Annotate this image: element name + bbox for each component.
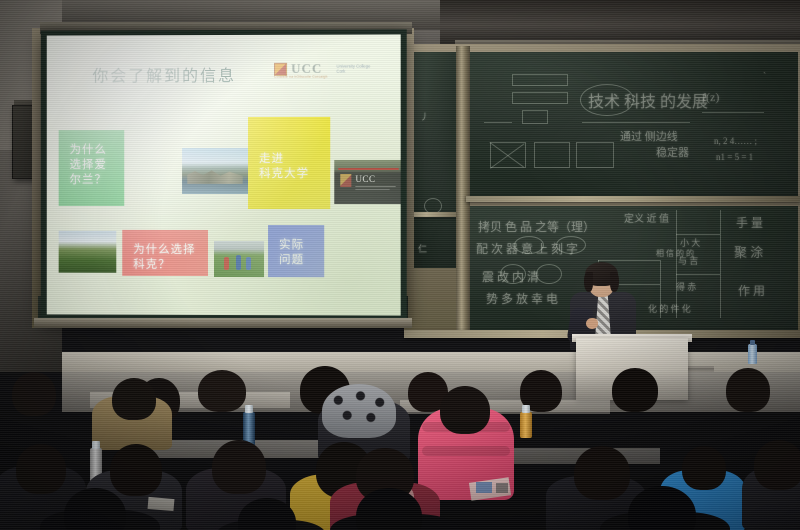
jacket-seam bbox=[422, 446, 510, 456]
lecture-hall-photo: 丿 仁 技术 科技 的发展 f(z) 通过 侧边线 稳定器 n, 2 4…… ;… bbox=[0, 0, 800, 530]
chalk-note-lower-4: 势 多 放 幸 电 bbox=[486, 290, 558, 307]
slide-title: 你会了解到的信息 bbox=[92, 62, 236, 86]
list-item bbox=[110, 444, 162, 496]
notebook bbox=[148, 497, 175, 511]
chalk-note-lower-8: 与 吉 bbox=[678, 254, 698, 267]
student-polka-dot-hat bbox=[322, 384, 396, 438]
chalk-note-lower-1: 拷贝 色 品 之等（理） bbox=[478, 218, 595, 235]
tile-green: 为什么 选择爱 尔兰？ bbox=[59, 130, 125, 206]
presenter-hair-left bbox=[584, 272, 593, 292]
list-item bbox=[682, 446, 726, 490]
tile-green-line3: 尔兰？ bbox=[70, 172, 125, 187]
chalk-tray-upper bbox=[466, 196, 800, 202]
photo-ucc-sign: UCC bbox=[334, 160, 400, 204]
projector-screen-frame: 你会了解到的信息 UCC University College Cork Col… bbox=[41, 29, 407, 320]
ucc-tagline: Coláiste na hOllscoile Corcaigh bbox=[274, 75, 328, 79]
chalk-note-lower-11: 化 的 件 化 bbox=[648, 302, 691, 315]
audience-area bbox=[0, 370, 800, 530]
presenter-hair-right bbox=[610, 272, 619, 292]
list-item bbox=[12, 372, 56, 416]
list-item bbox=[754, 440, 800, 490]
handout-image-2 bbox=[496, 483, 508, 493]
list-item bbox=[16, 444, 66, 494]
jacket-seam bbox=[422, 422, 510, 432]
list-item bbox=[726, 368, 770, 412]
chalkboard-upper: 技术 科技 的发展 f(z) 通过 侧边线 稳定器 n, 2 4…… ; n1 … bbox=[470, 52, 798, 198]
board-divider-rail bbox=[456, 46, 470, 332]
chalk-note-lower-9: 得 赤 bbox=[676, 280, 696, 293]
tile-blue: 实际 问题 bbox=[268, 225, 324, 277]
chalk-note-upper-6: n1 = 5 = 1 bbox=[716, 152, 753, 162]
photo-sport bbox=[214, 241, 264, 277]
tile-yellow-line2: 科克大学 bbox=[259, 166, 330, 181]
chalk-note-upper-2: 通过 侧边线 bbox=[620, 128, 678, 144]
list-item bbox=[612, 368, 658, 412]
chalkboard-panel-left: 丿 仁 bbox=[410, 52, 458, 268]
chalk-note-upper-4: f(z) bbox=[702, 90, 719, 105]
ucc-subtitle-line2: Cork bbox=[336, 69, 370, 74]
tile-yellow: 走进 科克大学 bbox=[248, 117, 330, 209]
tile-yellow-line1: 走进 bbox=[259, 151, 330, 166]
photo-campus bbox=[59, 231, 117, 273]
screen-bottom-bar bbox=[34, 318, 412, 328]
presenter-hand bbox=[586, 318, 598, 329]
ucc-sign-text: UCC bbox=[355, 174, 375, 184]
chalk-note-upper-5: n, 2 4…… ; bbox=[714, 136, 757, 146]
chalk-note-lower-13: 聚 涂 bbox=[734, 242, 763, 261]
projector-screen: 你会了解到的信息 UCC University College Cork Col… bbox=[47, 34, 401, 315]
chalk-note-lower-5: 定义 近 值 bbox=[624, 210, 669, 225]
thermos-flask bbox=[520, 412, 532, 438]
tile-pink: 为什么选择 科克？ bbox=[122, 230, 208, 276]
ucc-crest-icon bbox=[274, 62, 287, 75]
tile-pink-line1: 为什么选择 bbox=[133, 242, 208, 257]
handout-image bbox=[476, 482, 492, 493]
chalk-tray-left bbox=[408, 212, 460, 217]
chalk-note-upper-3: 稳定器 bbox=[656, 144, 689, 160]
list-item bbox=[198, 370, 246, 412]
tile-pink-line2: 科克？ bbox=[133, 257, 208, 272]
tile-blue-line2: 问题 bbox=[279, 252, 324, 267]
tile-blue-line1: 实际 bbox=[279, 237, 324, 252]
chalk-note-lower-6: 小 大 bbox=[680, 236, 700, 249]
list-item bbox=[212, 440, 266, 494]
tile-green-line1: 为什么 bbox=[70, 142, 125, 157]
photo-cliffs bbox=[182, 148, 248, 194]
water-bottle bbox=[748, 344, 757, 364]
chalk-note-lower-14: 作 用 bbox=[738, 282, 765, 299]
tile-green-line2: 选择爱 bbox=[70, 157, 125, 172]
chalk-note-lower-7: 相 信 的 的 bbox=[656, 248, 694, 259]
list-item bbox=[112, 378, 156, 420]
list-item bbox=[574, 446, 630, 500]
chalk-note-lower-12: 手 量 bbox=[736, 214, 763, 231]
